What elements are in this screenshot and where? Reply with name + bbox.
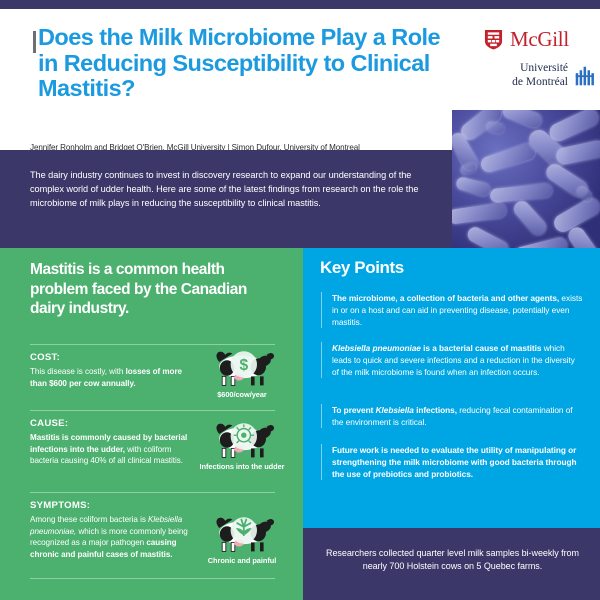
- key-point-1-text: The microbiome, a collection of bacteria…: [332, 292, 583, 328]
- divider-4: [30, 578, 275, 579]
- fact-symptoms-text: Among these coliform bacteria is Klebsie…: [30, 514, 190, 560]
- fact-cost-text: This disease is costly, with losses of m…: [30, 366, 190, 389]
- mcgill-shield-icon: [484, 29, 503, 50]
- key-points-panel: Key Points The microbiome, a collection …: [303, 248, 600, 528]
- udem-emblem-icon: [574, 66, 596, 86]
- mcgill-wordmark: McGill: [510, 29, 569, 50]
- key-point-2: Klebsiella pneumoniae is a bacterial cau…: [321, 342, 583, 378]
- divider-2: [30, 410, 275, 411]
- key-point-3: To prevent Klebsiella infections, reduci…: [321, 404, 583, 428]
- intro-text: The dairy industry continues to invest i…: [30, 168, 430, 211]
- fact-cost-caption: $600/cow/year: [196, 390, 288, 399]
- bacteria-micrograph-image: [452, 110, 600, 270]
- key-point-2-text: Klebsiella pneumoniae is a bacterial cau…: [332, 342, 583, 378]
- cow-bacteria-icon: Infections into the udder: [196, 420, 288, 471]
- mcgill-logo: McGill: [484, 29, 596, 50]
- footer-text: Researchers collected quarter level milk…: [325, 547, 580, 573]
- key-point-4: Future work is needed to evaluate the ut…: [321, 444, 583, 480]
- cow-dollar-glyph: $: [209, 348, 275, 388]
- fact-cause-caption: Infections into the udder: [196, 462, 288, 471]
- key-points-title: Key Points: [320, 258, 404, 278]
- intro-band: The dairy industry continues to invest i…: [0, 150, 452, 248]
- fact-symptoms-label: SYMPTOMS:: [30, 500, 275, 511]
- cow-bacteria-glyph: [209, 420, 275, 460]
- udem-logo: Universitéde Montréal: [484, 62, 596, 89]
- top-accent-bar: [0, 0, 600, 9]
- fact-symptoms-caption: Chronic and painful: [196, 556, 288, 565]
- key-point-3-text: To prevent Klebsiella infections, reduci…: [332, 404, 583, 428]
- footer-band: Researchers collected quarter level milk…: [303, 528, 600, 600]
- cow-pain-glyph: [209, 514, 275, 554]
- green-facts-panel: Mastitis is a common health problem face…: [0, 248, 303, 600]
- fact-cause-text: Mastitis is commonly caused by bacterial…: [30, 432, 190, 467]
- svg-text:$: $: [239, 357, 248, 374]
- title-accent-rule: [33, 31, 36, 53]
- udem-wordmark: Universitéde Montréal: [484, 62, 568, 89]
- logo-group: McGill Universitéde Montréal: [484, 29, 596, 89]
- cow-pain-icon: Chronic and painful: [196, 514, 288, 565]
- divider-3: [30, 492, 275, 493]
- key-point-1: The microbiome, a collection of bacteria…: [321, 292, 583, 328]
- key-point-4-text: Future work is needed to evaluate the ut…: [332, 444, 583, 480]
- infographic-page: Does the Milk Microbiome Play a Role in …: [0, 0, 600, 600]
- green-panel-heading: Mastitis is a common health problem face…: [30, 260, 265, 319]
- cow-dollar-icon: $ $600/cow/year: [196, 348, 288, 399]
- divider-1: [30, 344, 275, 345]
- page-title: Does the Milk Microbiome Play a Role in …: [38, 25, 448, 102]
